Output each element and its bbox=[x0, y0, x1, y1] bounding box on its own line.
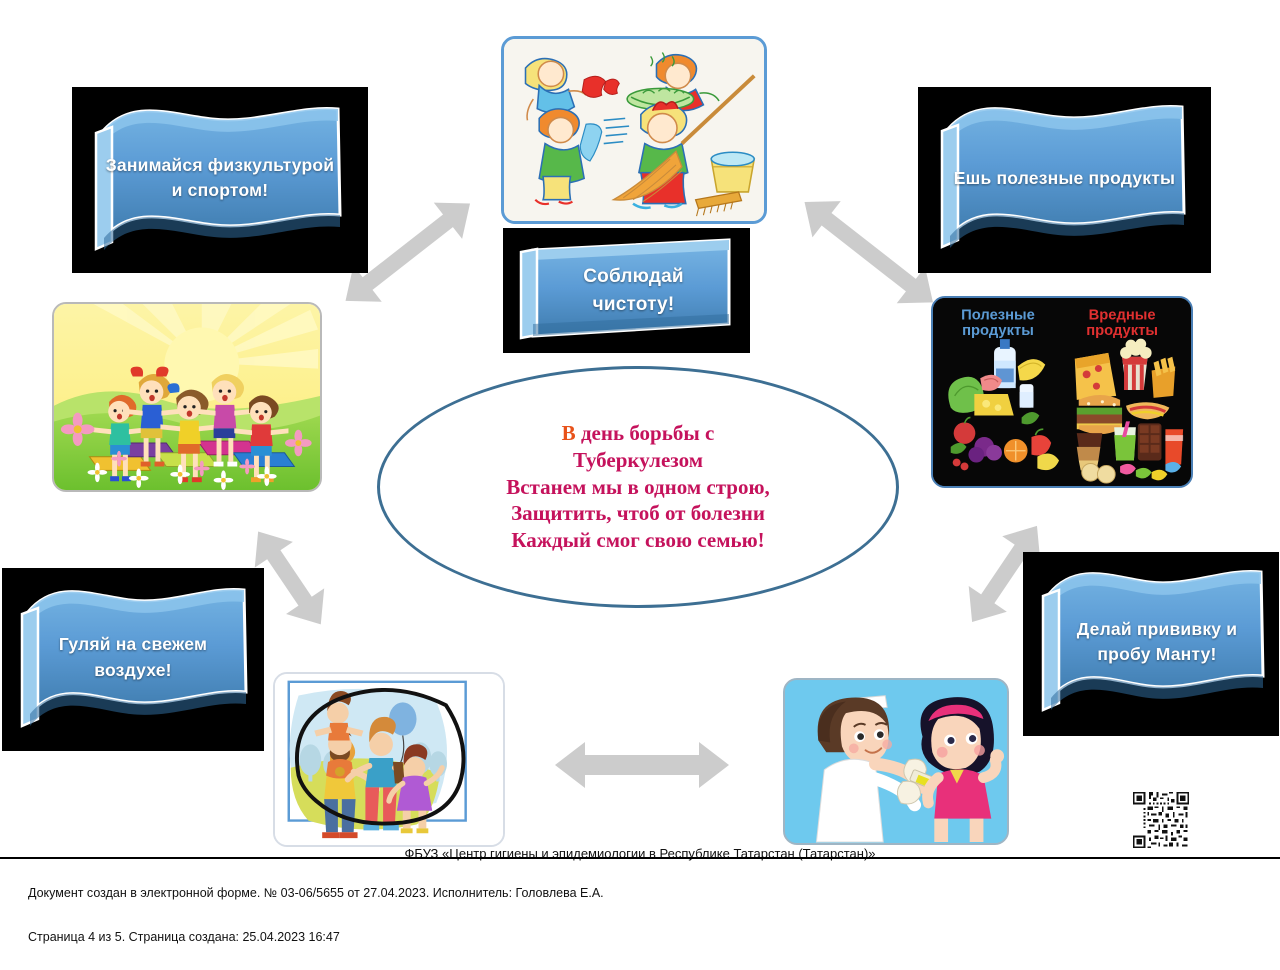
family-walking-illustration bbox=[275, 674, 503, 845]
picture-children-exercising bbox=[52, 302, 322, 492]
food-good-heading-line2: продукты bbox=[962, 323, 1034, 339]
banner-label-fresh-air-line2: воздухе! bbox=[94, 660, 171, 680]
footer-divider bbox=[0, 857, 1280, 859]
center-oval-poem: В день борьбы с Туберкулезом Встанем мы … bbox=[377, 366, 899, 608]
banner-label-food: Ешь полезные продукты bbox=[954, 166, 1175, 191]
food-bad-heading-line2: продукты bbox=[1086, 323, 1158, 339]
banner-label-cleanliness-line2: чистоту! bbox=[593, 294, 675, 315]
banner-label-cleanliness: Соблюдай чистоту! bbox=[583, 263, 684, 318]
food-comparison-illustration: Полезные продукты Вредные продукты bbox=[933, 298, 1191, 486]
qr-code-icon bbox=[1128, 790, 1194, 850]
banner-plate-fresh-air: Гуляй на свежем воздухе! bbox=[2, 568, 264, 751]
picture-children-cleaning bbox=[501, 36, 767, 224]
flag-food: Ешь полезные продукты bbox=[918, 87, 1211, 273]
flag-sport: Занимайся физкультурой и спортом! bbox=[72, 87, 368, 273]
poem-line-3: Встанем мы в одном строю, bbox=[506, 474, 770, 501]
banner-label-vaccination-line2: пробу Манту! bbox=[1097, 644, 1216, 664]
qr-code bbox=[1128, 790, 1194, 850]
banner-label-sport: Занимайся физкультурой и спортом! bbox=[106, 153, 334, 204]
poem-line-4: Защитить, чтоб от болезни bbox=[506, 500, 770, 527]
flag-cleanliness: Соблюдай чистоту! bbox=[503, 228, 750, 353]
flag-vaccination: Делай прививку и пробу Манту! bbox=[1023, 552, 1279, 736]
poem-line-5: Каждый смог свою семью! bbox=[506, 527, 770, 554]
banner-label-sport-line2: и спортом! bbox=[172, 180, 269, 200]
banner-label-food-line1: Ешь полезные продукты bbox=[954, 168, 1175, 188]
children-cleaning-illustration bbox=[504, 39, 764, 221]
picture-food-comparison: Полезные продукты Вредные продукты bbox=[931, 296, 1193, 488]
poem-line-1-rest: день борьбы с bbox=[576, 421, 715, 445]
banner-plate-cleanliness: Соблюдай чистоту! bbox=[503, 228, 750, 353]
arrow-walk-vaccine bbox=[552, 735, 732, 795]
banner-label-fresh-air: Гуляй на свежем воздухе! bbox=[59, 632, 207, 683]
flag-fresh-air: Гуляй на свежем воздухе! bbox=[2, 568, 264, 751]
footer-line-1: Документ создан в электронной форме. № 0… bbox=[28, 883, 604, 905]
food-bad-heading-line1: Вредные bbox=[1089, 308, 1156, 324]
banner-plate-vaccination: Делай прививку и пробу Манту! bbox=[1023, 552, 1279, 736]
picture-vaccination bbox=[783, 678, 1009, 845]
banner-label-fresh-air-line1: Гуляй на свежем bbox=[59, 634, 207, 654]
footer-line-2: Страница 4 из 5. Страница создана: 25.04… bbox=[28, 927, 604, 949]
children-exercising-illustration bbox=[54, 304, 320, 490]
vaccination-illustration bbox=[785, 680, 1007, 843]
poem-line-1: В день борьбы с bbox=[506, 420, 770, 447]
banner-label-vaccination: Делай прививку и пробу Манту! bbox=[1077, 617, 1238, 668]
banner-label-vaccination-line1: Делай прививку и bbox=[1077, 619, 1238, 639]
poem-drop-cap: В bbox=[562, 421, 576, 445]
poem-line-2: Туберкулезом bbox=[506, 447, 770, 474]
banner-plate-sport: Занимайся физкультурой и спортом! bbox=[72, 87, 368, 273]
banner-label-sport-line1: Занимайся физкультурой bbox=[106, 155, 334, 175]
picture-family-walking bbox=[273, 672, 505, 847]
banner-plate-food: Ешь полезные продукты bbox=[918, 87, 1211, 273]
poster-canvas: Занимайся физкультурой и спортом! bbox=[0, 0, 1280, 906]
banner-label-cleanliness-line1: Соблюдай bbox=[583, 266, 684, 287]
footer-document-info: Документ создан в электронной форме. № 0… bbox=[28, 861, 604, 970]
food-good-heading-line1: Полезные bbox=[961, 308, 1035, 324]
poem-text: В день борьбы с Туберкулезом Встанем мы … bbox=[506, 420, 770, 554]
